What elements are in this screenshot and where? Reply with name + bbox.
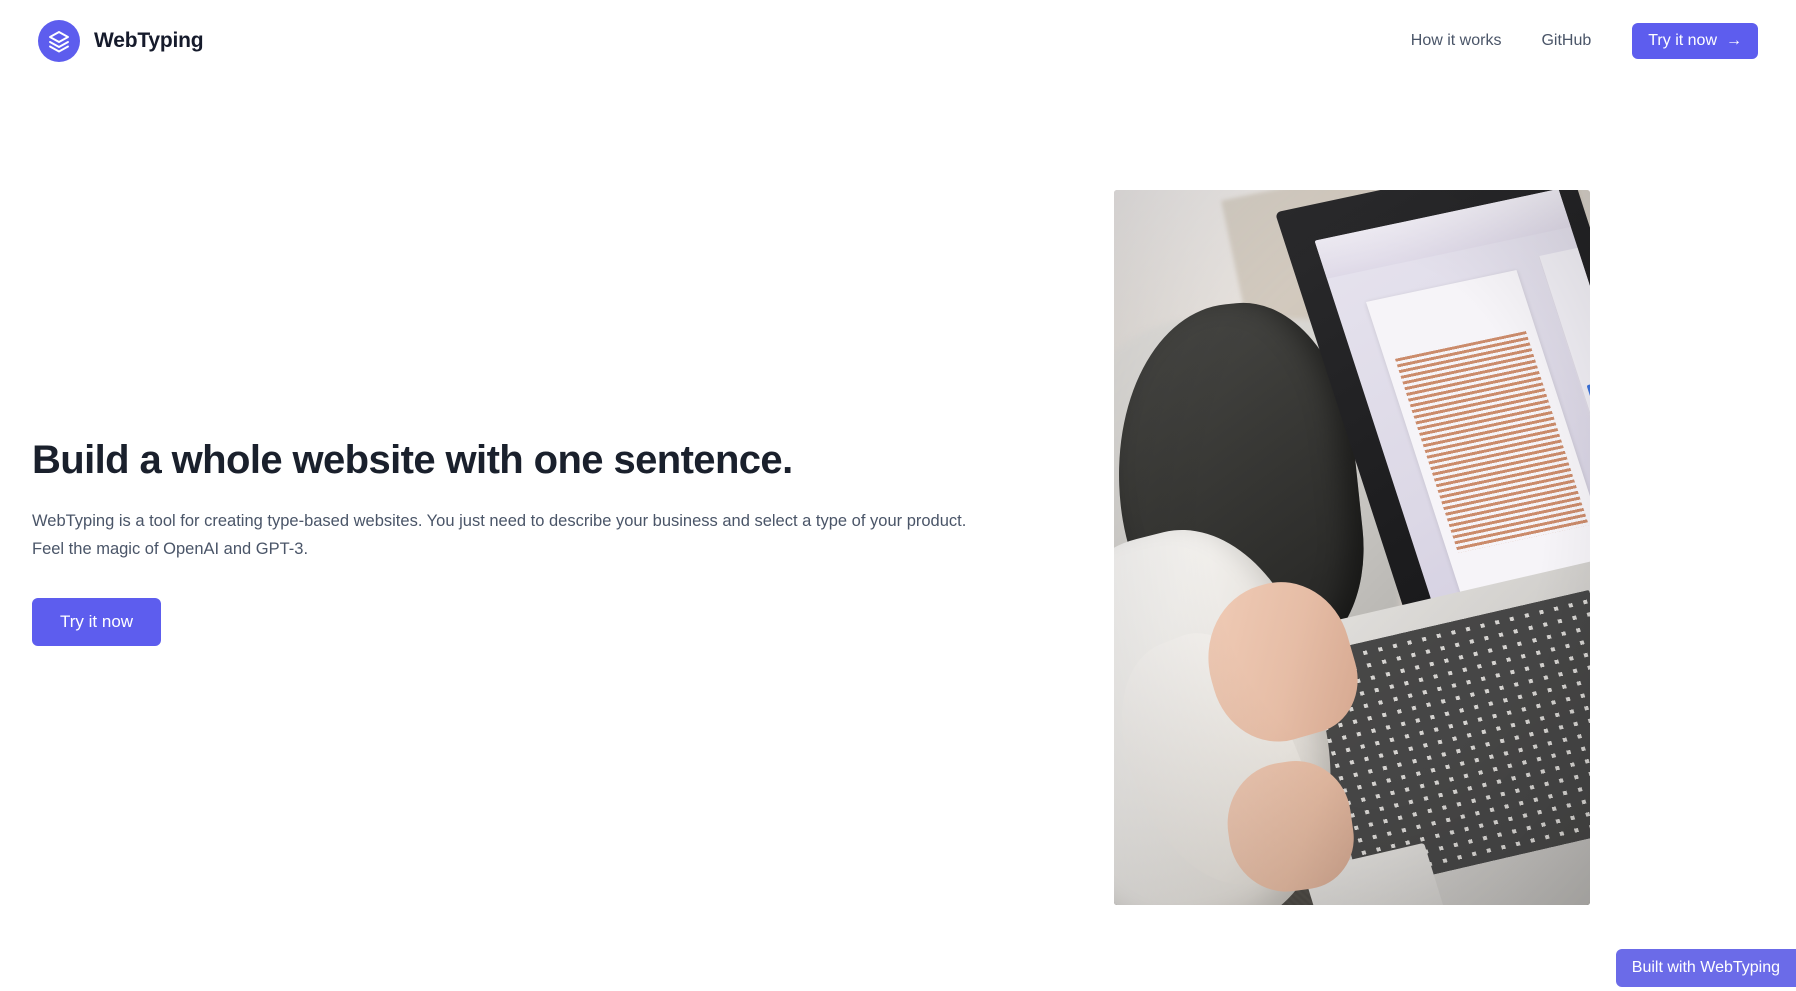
hero-try-it-now-button[interactable]: Try it now [32,598,161,646]
arrow-right-icon: → [1726,33,1742,49]
hero-section: Build a whole website with one sentence.… [0,82,1796,991]
header-try-it-now-label: Try it now [1648,32,1717,50]
built-with-badge[interactable]: Built with WebTyping [1616,949,1796,987]
photo-vignette [1114,190,1590,905]
nav-link-how-it-works[interactable]: How it works [1391,26,1522,56]
nav-link-github[interactable]: GitHub [1521,26,1611,56]
hero-photo-illustration [1114,190,1590,905]
main-nav: How it works GitHub Try it now → [1391,23,1758,59]
brand-name: WebTyping [94,29,203,53]
layers-icon [38,20,80,62]
hero-copy: Build a whole website with one sentence.… [32,437,992,646]
hero-image [1114,190,1590,905]
site-header: WebTyping How it works GitHub Try it now… [0,0,1796,82]
page-title: Build a whole website with one sentence. [32,437,992,484]
hero-subtitle: WebTyping is a tool for creating type-ba… [32,508,982,563]
brand-logo-link[interactable]: WebTyping [38,20,203,62]
header-try-it-now-button[interactable]: Try it now → [1632,23,1758,59]
